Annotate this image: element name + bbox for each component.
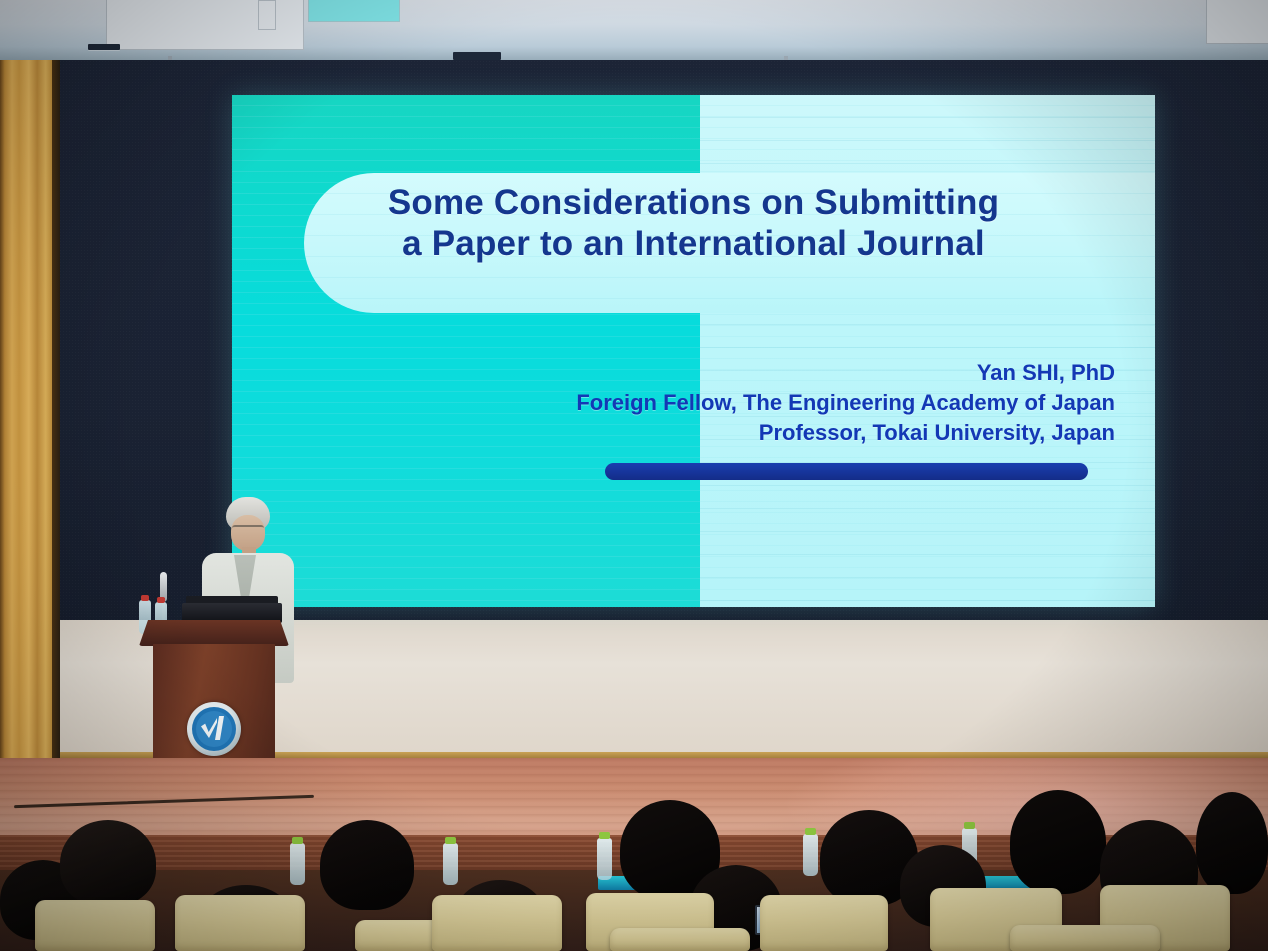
auditorium-seat[interactable] <box>432 895 562 951</box>
ceiling-ac-panel-right <box>1206 0 1268 44</box>
author-affiliation-2: Professor, Tokai University, Japan <box>576 418 1115 448</box>
author-name: Yan SHI, PhD <box>576 358 1115 388</box>
auditorium-seat[interactable] <box>1010 925 1160 951</box>
auditorium-seat[interactable] <box>175 895 305 951</box>
water-bottle <box>803 834 818 876</box>
slide-title-line-1: Some Considerations on Submitting <box>232 182 1155 223</box>
slide-title-line-2: a Paper to an International Journal <box>232 223 1155 264</box>
water-bottle <box>290 843 305 885</box>
audience-head <box>1196 792 1268 894</box>
ceiling-light-panel <box>308 0 400 22</box>
slide-stripe-texture-right <box>700 95 1155 607</box>
wood-wall-panel <box>0 60 60 760</box>
slide-accent-bar <box>605 463 1088 480</box>
audience-head <box>1010 790 1106 894</box>
presentation-photo-scene: Yan SHI, PhD Foreign Fellow, The Enginee… <box>0 0 1268 951</box>
university-emblem-icon <box>187 702 241 756</box>
author-affiliation-1: Foreign Fellow, The Engineering Academy … <box>576 388 1115 418</box>
audience-head <box>60 820 156 906</box>
ceiling-vent-icon <box>88 44 120 50</box>
podium-top <box>139 620 289 646</box>
ceiling-duct <box>258 0 276 30</box>
auditorium-seat[interactable] <box>35 900 155 951</box>
glasses-icon <box>232 525 264 534</box>
auditorium-seat[interactable] <box>610 928 750 951</box>
water-bottle <box>443 843 458 885</box>
projection-screen: Yan SHI, PhD Foreign Fellow, The Enginee… <box>232 95 1155 607</box>
audience-head <box>320 820 414 910</box>
auditorium-seat[interactable] <box>760 895 888 951</box>
wood-panel-edge <box>52 60 60 760</box>
slide-author-block: Yan SHI, PhD Foreign Fellow, The Enginee… <box>576 358 1115 448</box>
slide-title: Some Considerations on Submitting a Pape… <box>232 182 1155 265</box>
ceiling-vent-icon <box>453 52 501 60</box>
water-bottle <box>597 838 612 880</box>
